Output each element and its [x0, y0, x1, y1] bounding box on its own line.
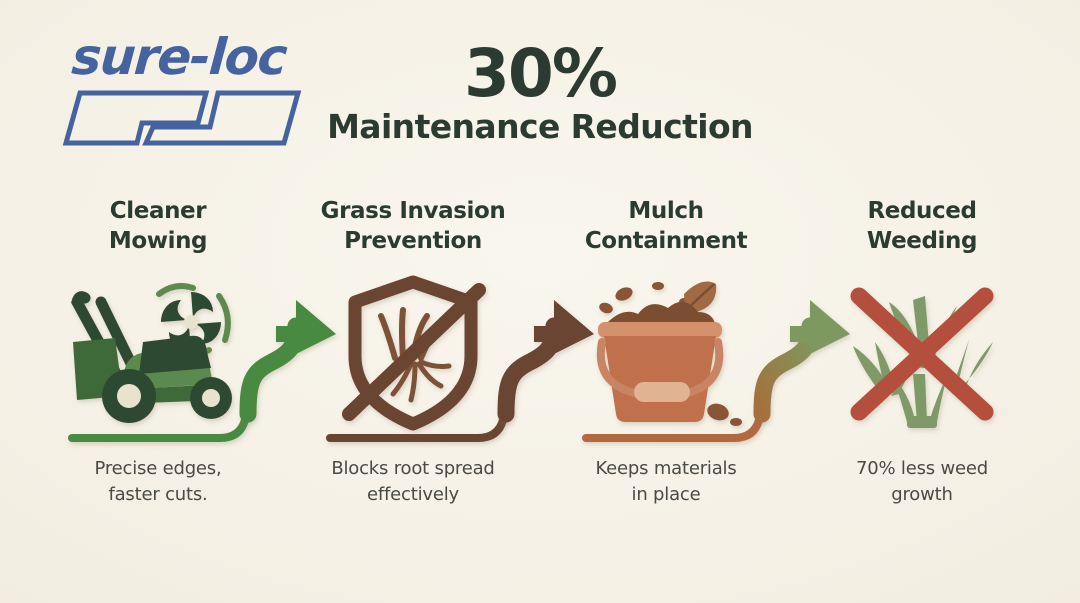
column-title-line2: Weeding	[797, 226, 1047, 256]
shield-no-roots-icon	[288, 272, 538, 442]
column-caption: Blocks root spread effectively	[288, 456, 538, 508]
mulch-bucket-icon	[541, 272, 791, 442]
column-title-line2: Prevention	[288, 226, 538, 256]
column-title: Cleaner Mowing	[33, 196, 283, 257]
column-title: Mulch Containment	[541, 196, 791, 257]
infographic-canvas: sure-loc 30% Maintenance Reduction	[0, 0, 1080, 603]
column-title-line2: Containment	[541, 226, 791, 256]
column-title-line2: Mowing	[33, 226, 283, 256]
feature-column-cleaner-mowing: Cleaner Mowing	[33, 196, 283, 257]
column-title: Reduced Weeding	[797, 196, 1047, 257]
column-caption-line1: Keeps materials	[541, 456, 791, 482]
column-title-line1: Grass Invasion	[288, 196, 538, 226]
weed-crossed-out-icon	[797, 272, 1047, 442]
column-title-line1: Reduced	[797, 196, 1047, 226]
stat-number: 30%	[0, 42, 1080, 105]
feature-column-grass-invasion-prevention: Grass Invasion Prevention	[288, 196, 538, 257]
column-caption-line1: 70% less weed	[797, 456, 1047, 482]
column-caption-line2: growth	[797, 482, 1047, 508]
column-caption: Precise edges, faster cuts.	[33, 456, 283, 508]
column-caption-line1: Blocks root spread	[288, 456, 538, 482]
headline-block: 30% Maintenance Reduction	[0, 42, 1080, 146]
stat-label: Maintenance Reduction	[0, 109, 1080, 146]
feature-column-reduced-weeding: Reduced Weeding	[797, 196, 1047, 257]
column-caption: Keeps materials in place	[541, 456, 791, 508]
feature-column-mulch-containment: Mulch Containment	[541, 196, 791, 257]
column-title: Grass Invasion Prevention	[288, 196, 538, 257]
column-caption-line1: Precise edges,	[33, 456, 283, 482]
column-caption-line2: in place	[541, 482, 791, 508]
column-caption: 70% less weed growth	[797, 456, 1047, 508]
lawn-mower-icon	[33, 272, 283, 442]
column-caption-line2: faster cuts.	[33, 482, 283, 508]
column-caption-line2: effectively	[288, 482, 538, 508]
column-title-line1: Cleaner	[33, 196, 283, 226]
column-title-line1: Mulch	[541, 196, 791, 226]
